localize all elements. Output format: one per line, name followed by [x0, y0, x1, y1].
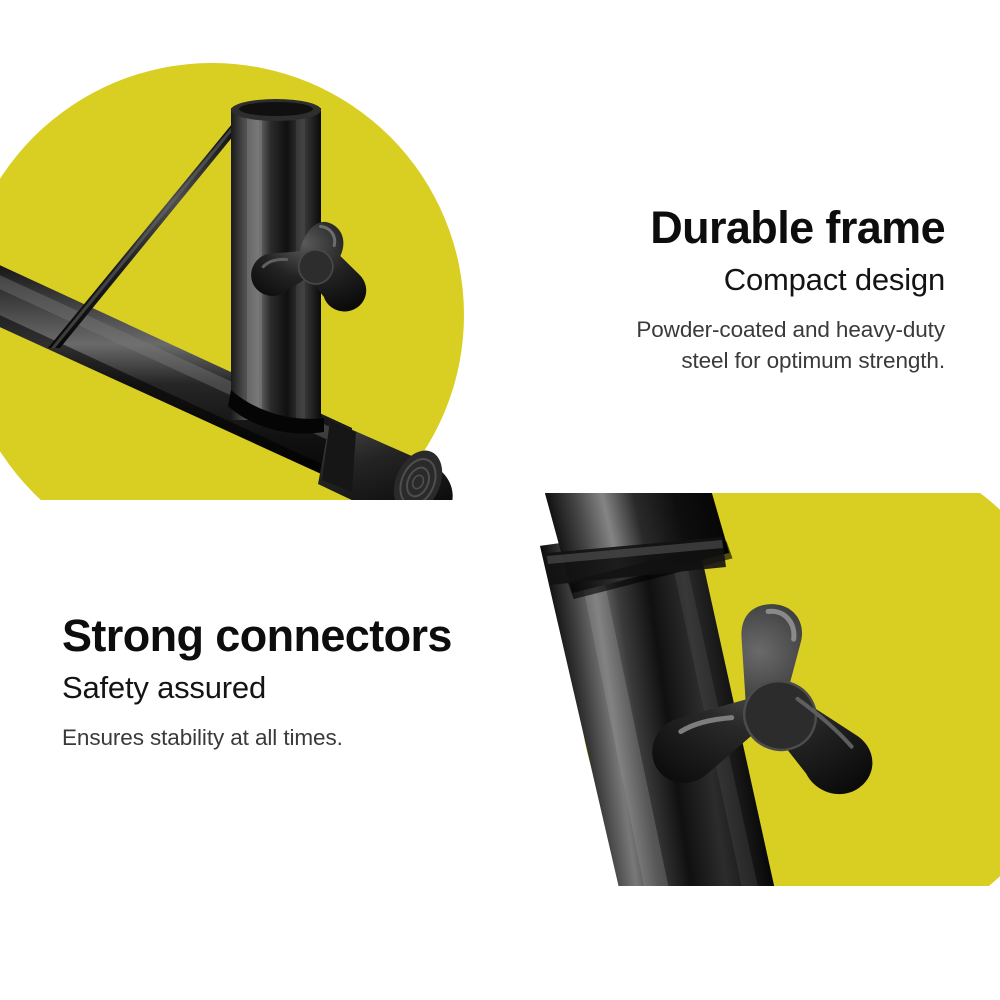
feature-body-line-1: Powder-coated and heavy-duty: [515, 314, 945, 346]
feature-body-strong-connectors: Ensures stability at all times.: [62, 722, 502, 754]
feature-subtitle-durable-frame: Compact design: [515, 261, 945, 300]
product-photo-connector-knob: [500, 493, 1000, 886]
feature-body-durable-frame: Powder-coated and heavy-duty steel for o…: [515, 314, 945, 378]
infographic-canvas: Durable frame Compact design Powder-coat…: [0, 0, 1000, 1000]
feature-body-line-2: steel for optimum strength.: [515, 345, 945, 377]
feature-title-strong-connectors: Strong connectors: [62, 613, 502, 660]
feature-subtitle-strong-connectors: Safety assured: [62, 669, 502, 708]
frame-joint-illustration: [0, 60, 500, 500]
connector-knob-illustration: [500, 493, 1000, 886]
feature-title-durable-frame: Durable frame: [515, 205, 945, 252]
feature-body-line-1: Ensures stability at all times.: [62, 722, 502, 754]
product-photo-frame-joint: [0, 60, 500, 500]
feature-block-durable-frame: Durable frame Compact design Powder-coat…: [515, 205, 945, 377]
feature-block-strong-connectors: Strong connectors Safety assured Ensures…: [62, 613, 502, 753]
